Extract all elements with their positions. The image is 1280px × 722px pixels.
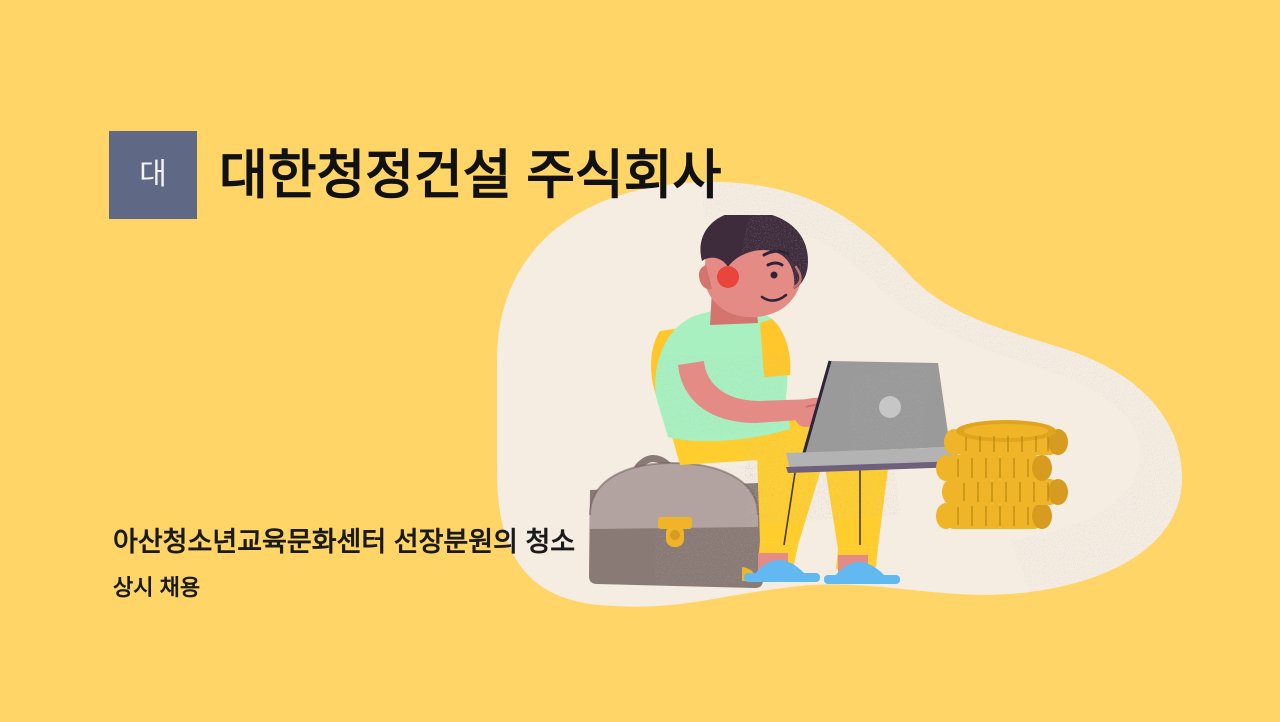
job-title-text: 아산청소년교육문화센터 선장분원의 청소 bbox=[113, 524, 1013, 560]
company-name-title: 대한청정건설 주식회사 bbox=[219, 149, 721, 202]
coin-stack-icon bbox=[936, 420, 1068, 529]
company-initial-text: 대 bbox=[139, 160, 167, 190]
head bbox=[699, 215, 808, 325]
shirt bbox=[651, 309, 796, 450]
job-posting-banner: 대 대한청정건설 주식회사 아산청소년교육문화센터 선장분원의 청소 상시 채용 bbox=[0, 0, 1280, 722]
footer: 아산청소년교육문화센터 선장분원의 청소 상시 채용 bbox=[113, 524, 1013, 603]
job-type-text: 상시 채용 bbox=[113, 573, 1013, 603]
header: 대 대한청정건설 주식회사 bbox=[109, 131, 721, 219]
company-logo-badge: 대 bbox=[109, 131, 197, 219]
